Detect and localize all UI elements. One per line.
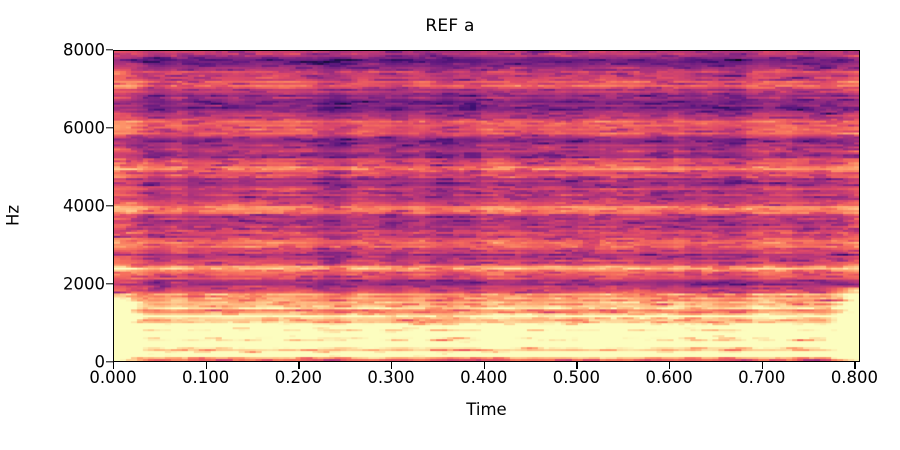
- chart-title: REF a: [0, 16, 900, 36]
- x-axis-label: Time: [113, 400, 860, 419]
- x-tick-label: 0.100: [161, 368, 251, 387]
- y-tick-mark: [106, 127, 113, 128]
- x-tick-label: 0.700: [717, 368, 807, 387]
- y-tick-mark: [106, 283, 113, 284]
- y-tick-mark: [106, 205, 113, 206]
- x-tick-mark: [762, 362, 763, 369]
- x-tick-label: 0.300: [346, 368, 436, 387]
- spectrogram-figure: REF a Hz 02000400060008000 Time 0.0000.1…: [0, 0, 900, 450]
- y-tick-label: 2000: [5, 275, 105, 294]
- x-tick-mark: [484, 362, 485, 369]
- x-tick-label: 0.800: [809, 368, 899, 387]
- x-tick-label: 0.200: [253, 368, 343, 387]
- spectrogram-image: [114, 51, 859, 361]
- x-tick-mark: [669, 362, 670, 369]
- x-tick-label: 0.600: [624, 368, 714, 387]
- x-tick-mark: [206, 362, 207, 369]
- y-tick-label: 4000: [5, 197, 105, 216]
- x-tick-mark: [391, 362, 392, 369]
- x-tick-label: 0.400: [439, 368, 529, 387]
- plot-area: [113, 50, 860, 362]
- x-tick-mark: [576, 362, 577, 369]
- y-tick-mark: [106, 361, 113, 362]
- x-tick-mark: [113, 362, 114, 369]
- x-tick-label: 0.500: [531, 368, 621, 387]
- y-tick-mark: [106, 49, 113, 50]
- x-tick-mark: [298, 362, 299, 369]
- y-axis-label: Hz: [4, 186, 23, 246]
- x-tick-label: 0.000: [68, 368, 158, 387]
- y-tick-label: 8000: [5, 41, 105, 60]
- x-tick-mark: [854, 362, 855, 369]
- y-tick-label: 6000: [5, 119, 105, 138]
